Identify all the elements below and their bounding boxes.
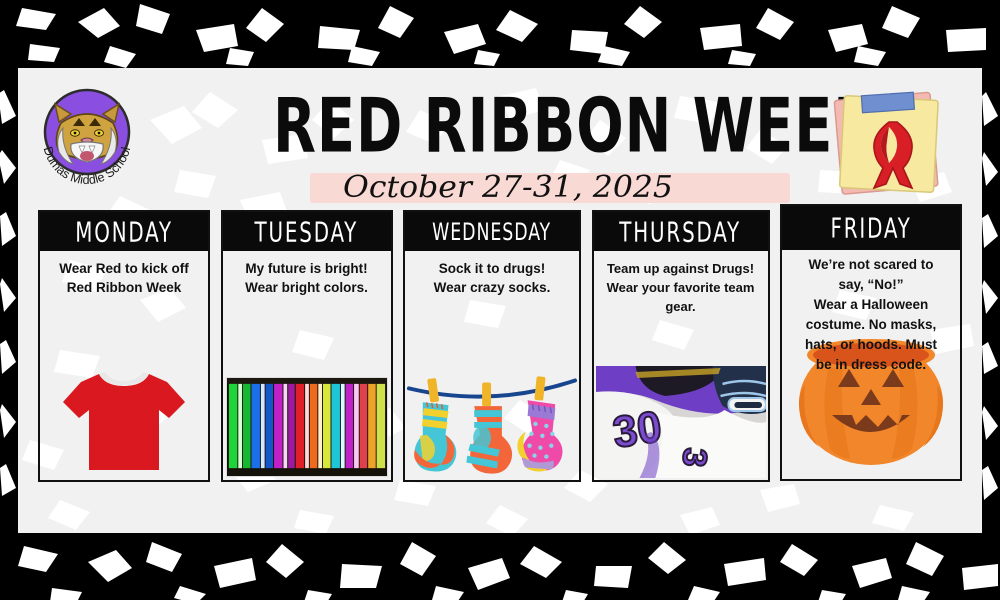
day-text-line: gear. bbox=[595, 297, 767, 316]
day-text-line: Wear your favorite team bbox=[595, 278, 767, 297]
day-body-tuesday: My future is bright! Wear bright colors. bbox=[223, 251, 391, 480]
day-label-monday: MONDAY bbox=[75, 215, 173, 247]
red-tshirt-icon bbox=[40, 358, 208, 480]
day-text-tuesday: My future is bright! Wear bright colors. bbox=[223, 251, 391, 297]
red-ribbon-week-poster: Dumas Middle School RED RIBBON WEEK Octo… bbox=[0, 0, 1000, 600]
day-card-wednesday: WEDNESDAY Sock it to drugs! Wear crazy s… bbox=[403, 210, 581, 482]
neon-lights-photo bbox=[226, 377, 388, 477]
day-text-line: Team up against Drugs! bbox=[595, 259, 767, 278]
day-label-friday: FRIDAY bbox=[830, 212, 911, 244]
day-body-wednesday: Sock it to drugs! Wear crazy socks. bbox=[405, 251, 579, 480]
day-card-tuesday: TUESDAY My future is bright! Wear bright… bbox=[221, 210, 393, 482]
day-text-line: be in dress code. bbox=[786, 355, 956, 375]
svg-text:3: 3 bbox=[674, 446, 714, 469]
day-text-thursday: Team up against Drugs! Wear your favorit… bbox=[594, 251, 768, 316]
day-body-friday: We’re not scared to say, “No!” Wear a Ha… bbox=[782, 250, 960, 479]
date-range: October 27-31, 2025 bbox=[261, 172, 755, 204]
day-card-monday: MONDAY Wear Red to kick off Red Ribbon W… bbox=[38, 210, 210, 482]
day-text-line: Red Ribbon Week bbox=[44, 278, 204, 297]
day-text-friday: We’re not scared to say, “No!” Wear a Ha… bbox=[782, 250, 960, 375]
day-text-line: costume. No masks, bbox=[786, 315, 956, 335]
day-text-line: We’re not scared to bbox=[786, 255, 956, 275]
day-text-line: say, “No!” bbox=[786, 275, 956, 295]
page-title: RED RIBBON WEEK bbox=[273, 84, 743, 168]
day-text-line: My future is bright! bbox=[227, 259, 387, 278]
day-text-line: Wear a Halloween bbox=[786, 295, 956, 315]
day-card-thursday: THURSDAY Team up against Drugs! Wear you… bbox=[592, 210, 770, 482]
day-card-friday: FRIDAY We’re not scared to say, “No!” We… bbox=[780, 204, 962, 481]
day-text-monday: Wear Red to kick off Red Ribbon Week bbox=[40, 251, 208, 297]
day-label-wednesday: WEDNESDAY bbox=[433, 218, 552, 246]
day-body-thursday: Team up against Drugs! Wear your favorit… bbox=[594, 251, 768, 480]
day-text-line: Wear crazy socks. bbox=[409, 278, 575, 297]
day-header-friday: FRIDAY bbox=[782, 206, 960, 250]
crazy-socks-clothesline-icon bbox=[405, 362, 579, 480]
day-header-wednesday: WEDNESDAY bbox=[405, 212, 579, 251]
day-text-line: Sock it to drugs! bbox=[409, 259, 575, 278]
day-text-line: Wear Red to kick off bbox=[44, 259, 204, 278]
poster-inner-panel: Dumas Middle School RED RIBBON WEEK Octo… bbox=[18, 68, 982, 533]
day-label-tuesday: TUESDAY bbox=[255, 215, 359, 247]
day-header-monday: MONDAY bbox=[40, 212, 208, 251]
day-header-thursday: THURSDAY bbox=[594, 212, 768, 251]
school-logo: Dumas Middle School bbox=[33, 82, 141, 192]
day-header-tuesday: TUESDAY bbox=[223, 212, 391, 251]
day-label-thursday: THURSDAY bbox=[620, 215, 742, 247]
sticky-note-icon bbox=[826, 82, 952, 202]
team-jerseys-photo: 30 3 bbox=[596, 366, 766, 478]
day-body-monday: Wear Red to kick off Red Ribbon Week bbox=[40, 251, 208, 480]
day-text-line: Wear bright colors. bbox=[227, 278, 387, 297]
day-text-wednesday: Sock it to drugs! Wear crazy socks. bbox=[405, 251, 579, 297]
day-text-line: hats, or hoods. Must bbox=[786, 335, 956, 355]
day-cards-row: MONDAY Wear Red to kick off Red Ribbon W… bbox=[38, 210, 962, 487]
